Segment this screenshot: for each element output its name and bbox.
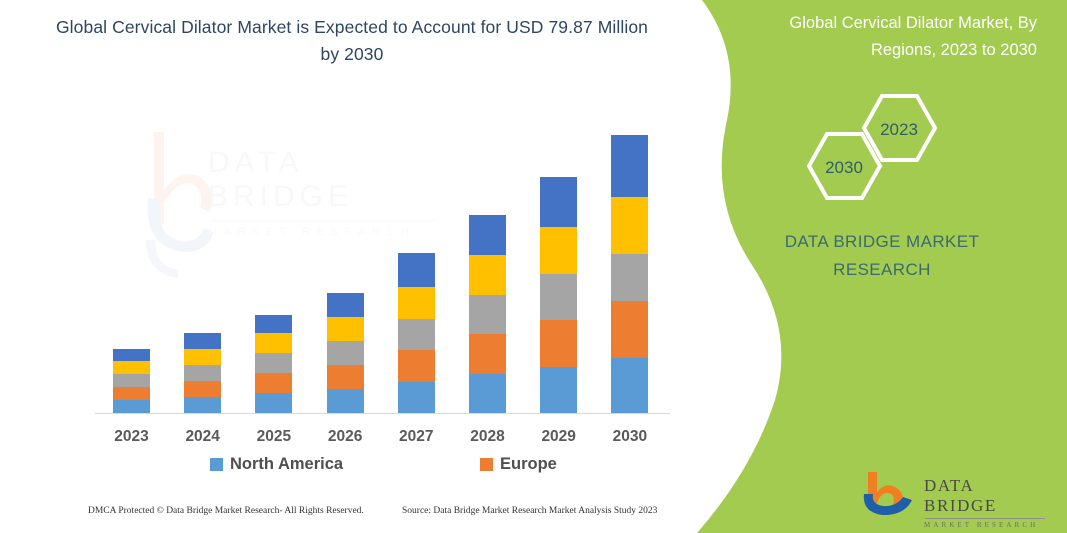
bar-segment-middle-east-and-africa [398,253,435,287]
bar-segment-europe [327,365,364,389]
green-side-panel: Global Cervical Dilator Market, By Regio… [667,0,1067,533]
bar-segment-asia-pacific [611,254,648,301]
bar-segment-north-america [469,374,506,413]
bar-segment-south-america [113,361,150,374]
x-axis-label-2028: 2028 [458,428,518,446]
data-bridge-logo-icon [862,470,918,516]
chart-legend: North AmericaEurope [95,455,670,481]
bar-segment-north-america [398,382,435,413]
bar-segment-north-america [611,358,648,413]
legend-swatch [480,458,493,471]
legend-label: Europe [500,455,557,474]
bar-segment-europe [255,373,292,393]
x-axis-label-2029: 2029 [529,428,589,446]
x-axis-label-2025: 2025 [244,428,304,446]
bar-segment-europe [469,334,506,374]
bar-segment-asia-pacific [184,365,221,381]
bar-segment-south-america [540,227,577,274]
hexagon-badges: 2023 2030 [787,92,967,204]
bar-2030[interactable] [611,135,648,413]
logo-divider [925,518,1045,519]
bar-segment-middle-east-and-africa [184,333,221,349]
bar-segment-europe [398,350,435,382]
legend-label: North America [230,455,343,474]
x-axis-label-2026: 2026 [315,428,375,446]
bar-segment-middle-east-and-africa [469,215,506,255]
bar-segment-asia-pacific [113,374,150,387]
bar-2028[interactable] [469,215,506,413]
legend-swatch [210,458,223,471]
bar-segment-asia-pacific [540,274,577,320]
bar-segment-north-america [327,389,364,413]
x-axis-labels: 20232024202520262027202820292030 [95,428,670,450]
logo-main-text: DATA BRIDGE [924,476,1052,516]
bar-segment-middle-east-and-africa [540,177,577,227]
bar-segment-north-america [184,397,221,413]
bar-segment-south-america [255,333,292,353]
x-axis-label-2024: 2024 [173,428,233,446]
bar-segment-asia-pacific [398,319,435,350]
bar-segment-asia-pacific [327,341,364,365]
x-axis-label-2027: 2027 [386,428,446,446]
bar-segment-middle-east-and-africa [255,315,292,333]
bar-segment-middle-east-and-africa [611,135,648,197]
bar-segment-south-america [398,287,435,319]
bar-segment-europe [184,381,221,397]
bar-segment-north-america [113,400,150,413]
logo-wordmark: DATA BRIDGE MARKET RESEARCH [924,476,1052,529]
bar-2024[interactable] [184,333,221,413]
legend-item-europe[interactable]: Europe [480,455,557,474]
bar-segment-middle-east-and-africa [113,349,150,361]
panel-title: Global Cervical Dilator Market, By Regio… [727,10,1037,64]
x-axis-label-2023: 2023 [102,428,162,446]
hexagon-group-icon: 2023 2030 [787,92,967,204]
bar-segment-south-america [469,255,506,295]
bar-segment-north-america [540,367,577,413]
logo-sub-text: MARKET RESEARCH [924,521,1052,529]
page-title: Global Cervical Dilator Market is Expect… [52,14,652,68]
bar-2023[interactable] [113,349,150,413]
infographic-root: Global Cervical Dilator Market is Expect… [0,0,1067,533]
bar-segment-south-america [611,197,648,254]
footer: DMCA Protected © Data Bridge Market Rese… [0,506,700,526]
chart-panel: Global Cervical Dilator Market is Expect… [0,0,705,533]
footer-source: Source: Data Bridge Market Research Mark… [402,506,657,516]
bar-segment-south-america [184,349,221,365]
bar-segment-europe [113,387,150,400]
bar-2027[interactable] [398,253,435,413]
x-axis-label-2030: 2030 [600,428,660,446]
bar-segment-europe [540,320,577,367]
hexagon-2023-label: 2023 [880,120,918,139]
bar-segment-europe [611,301,648,358]
bar-segment-south-america [327,317,364,341]
bar-segment-asia-pacific [255,353,292,373]
bar-segment-north-america [255,393,292,413]
bar-2029[interactable] [540,177,577,413]
bar-segment-asia-pacific [469,295,506,334]
brand-name: DATA BRIDGE MARKET RESEARCH [757,228,1007,284]
bar-2025[interactable] [255,315,292,413]
legend-item-north-america[interactable]: North America [210,455,343,474]
x-axis-line [95,413,670,414]
footer-copyright: DMCA Protected © Data Bridge Market Rese… [88,506,364,516]
bar-2026[interactable] [327,293,364,413]
logo: DATA BRIDGE MARKET RESEARCH [862,470,1052,518]
bar-segment-middle-east-and-africa [327,293,364,317]
stacked-bar-plot [95,120,670,414]
hexagon-2030-label: 2030 [825,158,863,177]
